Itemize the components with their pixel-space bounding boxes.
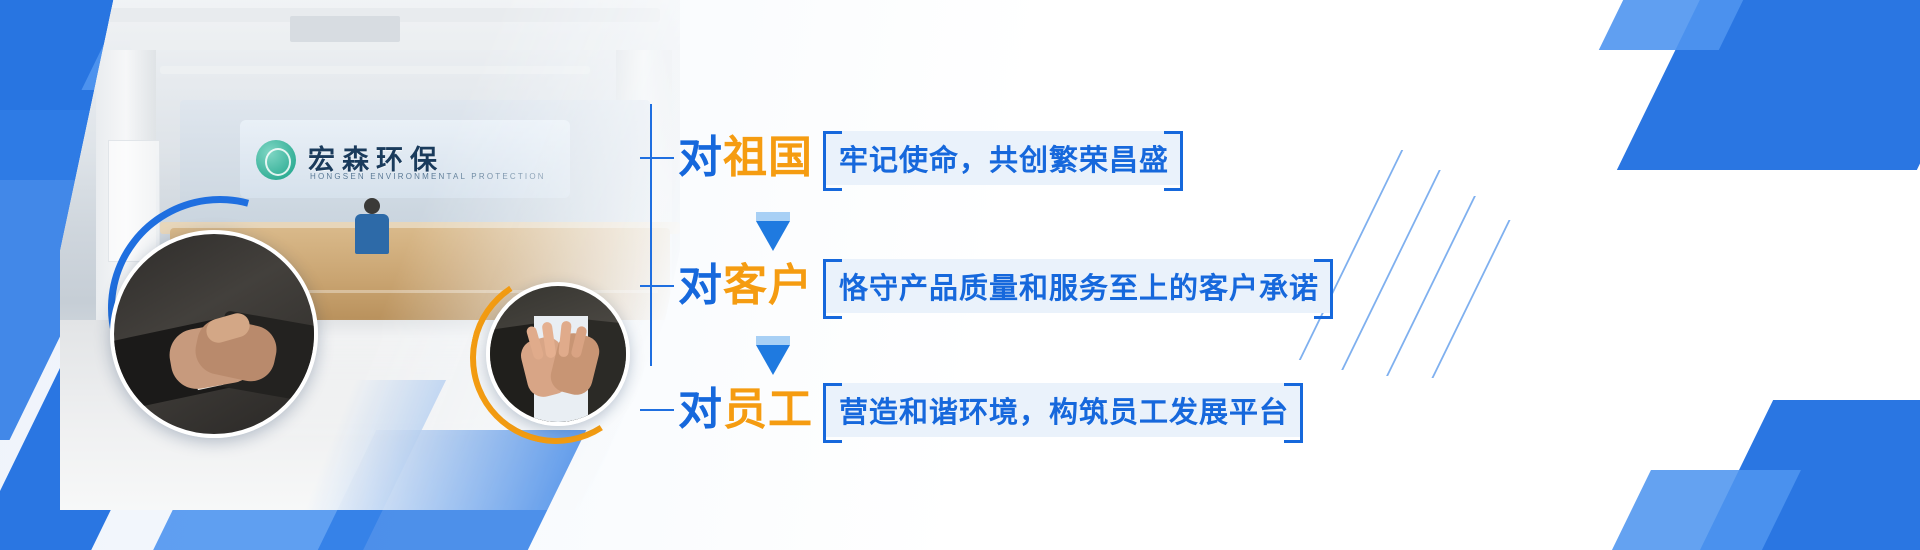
value-prefix: 对 — [678, 385, 723, 434]
value-prefix: 对 — [678, 261, 723, 310]
chevron-down-icon — [756, 212, 790, 251]
office-reception-photo: 宏森环保 HONGSEN ENVIRONMENTAL PROTECTION — [5, 0, 736, 510]
decor-parallelogram-top-right-1 — [1617, 0, 1920, 170]
connector-tick — [640, 157, 674, 159]
value-keyword-customer: 对客户 — [678, 264, 813, 308]
value-prefix: 对 — [678, 133, 723, 182]
company-values-banner: 宏森环保 HONGSEN ENVIRONMENTAL PROTECTION — [0, 0, 1920, 550]
value-keyword: 员工 — [723, 385, 813, 434]
handshake-photo — [110, 230, 318, 438]
decor-parallelogram-bottom-right-1 — [1627, 400, 1920, 550]
decor-parallelogram-bottom-right-2 — [1529, 470, 1801, 550]
value-row-employee: 对员工 营造和谐环境，构筑员工发展平台 — [640, 382, 1303, 438]
value-keyword-employee: 对员工 — [678, 388, 813, 432]
connector-tick — [640, 285, 674, 287]
company-sign-subtitle: HONGSEN ENVIRONMENTAL PROTECTION — [310, 172, 560, 181]
connector-tick — [640, 409, 674, 411]
globe-icon — [256, 140, 296, 180]
value-row-country: 对祖国 牢记使命，共创繁荣昌盛 — [640, 130, 1183, 186]
value-keyword: 祖国 — [723, 133, 813, 182]
value-row-customer: 对客户 恪守产品质量和服务至上的客户承诺 — [640, 258, 1333, 314]
value-keyword: 客户 — [723, 261, 813, 310]
applause-photo — [486, 282, 630, 426]
value-phrase-employee: 营造和谐环境，构筑员工发展平台 — [823, 383, 1303, 437]
values-content: 对祖国 牢记使命，共创繁荣昌盛 对客户 恪守产品质量和服务至上的客户承诺 对员工… — [640, 60, 1420, 480]
value-keyword-country: 对祖国 — [678, 136, 813, 180]
value-phrase-country: 牢记使命，共创繁荣昌盛 — [823, 131, 1183, 185]
chevron-down-icon — [756, 336, 790, 375]
value-phrase-customer: 恪守产品质量和服务至上的客户承诺 — [823, 259, 1333, 313]
decor-parallelogram-top-right-2 — [1599, 0, 1821, 50]
